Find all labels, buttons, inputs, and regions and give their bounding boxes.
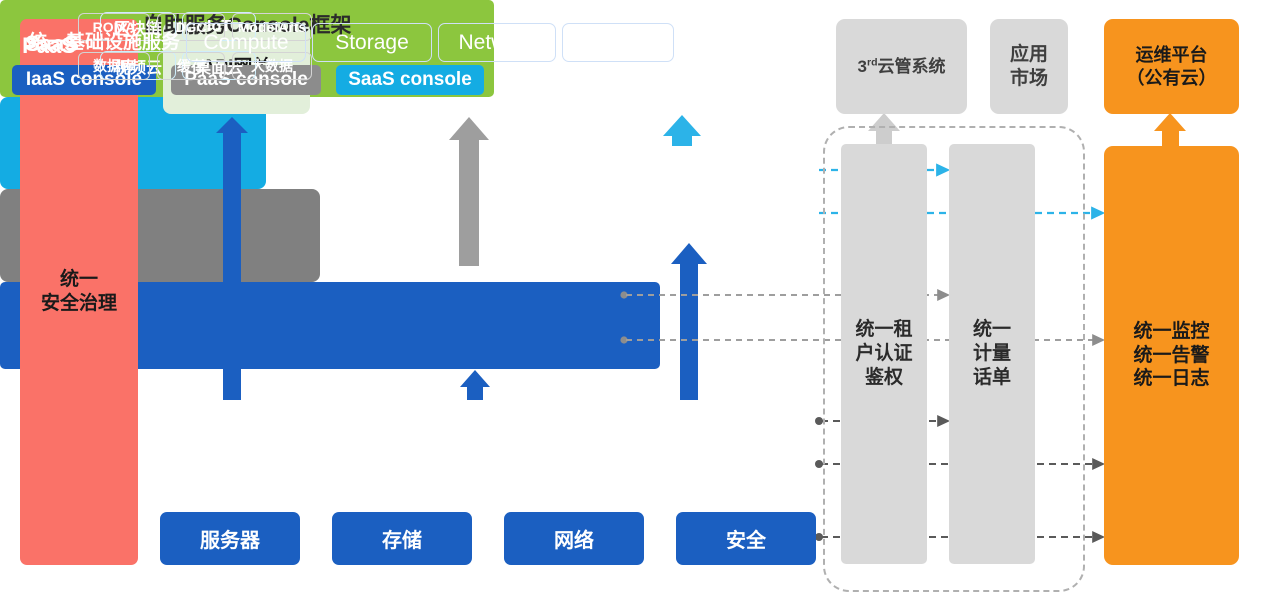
diagram-canvas: 统一 安全治理 API网关 自助服务Console框架 IaaS console… [0, 0, 1265, 605]
infra-chip-compute[interactable]: Compute [186, 23, 306, 62]
app-market-line1: 应用 [1010, 43, 1048, 67]
ops-platform-top-box[interactable]: 运维平台 （公有云） [1104, 19, 1239, 114]
arrow-infra-to-saas [671, 243, 707, 400]
third-party-cloud-mgmt-box[interactable]: 3rd云管系统 [836, 19, 967, 114]
auth-line1: 统一租 [855, 318, 912, 342]
billing-line3: 话单 [973, 366, 1011, 390]
unified-tenant-auth-column[interactable]: 统一租 户认证 鉴权 [841, 144, 927, 564]
security-governance-column[interactable]: 统一 安全治理 [20, 19, 138, 565]
security-label-line1: 统一 [41, 268, 117, 292]
hardware-box-server[interactable]: 服务器 [160, 512, 300, 565]
billing-line2: 计量 [973, 342, 1011, 366]
infrastructure-label: 统一基础设施服务 [14, 27, 194, 54]
hardware-box-security[interactable]: 安全 [676, 512, 816, 565]
arrow-infra-to-paas [460, 370, 490, 400]
unified-metering-billing-column[interactable]: 统一 计量 话单 [949, 144, 1035, 564]
third-party-superscript: rd [867, 56, 878, 68]
billing-line1: 统一 [973, 318, 1011, 342]
ops-column-line3: 统一日志 [1133, 367, 1209, 391]
ops-column-line1: 统一监控 [1133, 320, 1209, 344]
third-party-label: 云管系统 [878, 57, 946, 76]
arrow-shared-to-ops-platform [1154, 113, 1186, 146]
arrow-saas-to-console [663, 115, 701, 146]
app-market-line2: 市场 [1010, 67, 1048, 91]
infra-chip-storage[interactable]: Storage [312, 23, 432, 62]
third-party-prefix: 3 [858, 57, 867, 76]
hardware-box-network[interactable]: 网络 [504, 512, 644, 565]
saas-console-chip[interactable]: SaaS console [336, 65, 484, 95]
arrow-paas-to-console [449, 117, 489, 266]
auth-line3: 鉴权 [855, 366, 912, 390]
ops-top-line2: （公有云） [1127, 67, 1217, 90]
auth-line2: 户认证 [855, 342, 912, 366]
security-label-line2: 安全治理 [41, 292, 117, 316]
ops-platform-column[interactable]: 统一监控 统一告警 统一日志 [1104, 146, 1239, 565]
ops-top-line1: 运维平台 [1127, 44, 1217, 67]
app-market-box[interactable]: 应用 市场 [990, 19, 1068, 114]
paas-chip-database[interactable]: 数据库 [78, 52, 150, 80]
hardware-box-storage[interactable]: 存储 [332, 512, 472, 565]
ops-column-line2: 统一告警 [1133, 344, 1209, 368]
infra-chip-cce[interactable]: CCE [562, 23, 674, 62]
infra-chip-network[interactable]: Network [438, 23, 556, 62]
